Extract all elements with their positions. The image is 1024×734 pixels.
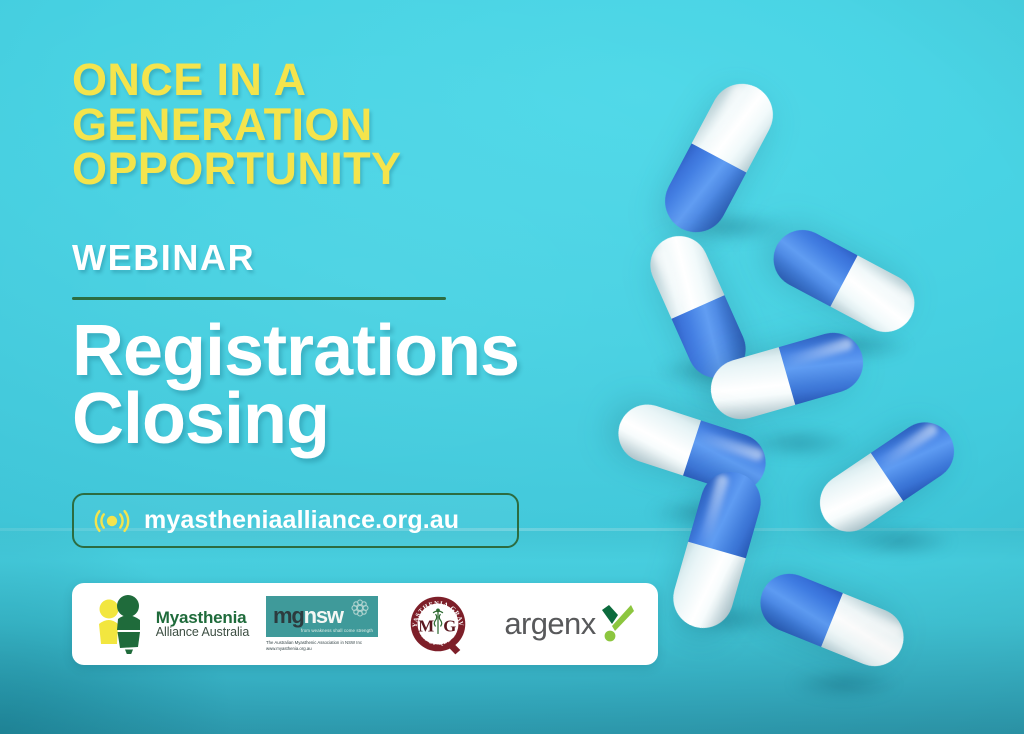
mgnsw-flower-icon [350,598,370,618]
maa-wordmark: Myasthenia Alliance Australia [156,609,249,640]
poster-canvas: ONCE IN A GENERATION OPPORTUNITY WEBINAR… [0,0,1024,734]
title-line-1: Registrations [72,317,672,385]
argenx-check-icon [600,604,634,644]
qld-seal-icon: MYASTHENIA GRAVIS ASSN. OF QLD INC. M G [407,593,469,655]
title-line-2: Closing [72,385,672,453]
svg-text:M: M [418,616,434,635]
kicker-webinar: WEBINAR [72,237,255,279]
mgnsw-mg-text: mg [266,603,304,629]
logo-myasthenia-alliance-australia[interactable]: Myasthenia Alliance Australia [72,583,258,665]
mgnsw-tagline: from weakness shall come strength [301,628,373,633]
broadcast-icon [94,508,130,534]
eyebrow-headline: ONCE IN A GENERATION OPPORTUNITY [72,58,592,192]
partner-logo-strip: Myasthenia Alliance Australia mg nsw [72,583,658,665]
divider-rule [72,297,446,300]
website-url-button[interactable]: myastheniaalliance.org.au [72,493,519,548]
maa-figures-icon [95,594,147,654]
mgnsw-nsw-text: nsw [304,603,343,629]
mgnsw-caption-line-2: www.myasthenia.org.au [266,646,378,652]
maa-primary-text: Myasthenia [156,609,249,627]
svg-text:G: G [443,616,456,635]
page-title: Registrations Closing [72,317,672,454]
eyebrow-line-3: OPPORTUNITY [72,147,592,192]
eyebrow-line-1: ONCE IN A [72,58,592,103]
logo-mg-nsw[interactable]: mg nsw from weakness shall come strength… [258,583,386,665]
mgnsw-caption: The Australian Myasthenic Association in… [266,640,378,652]
logo-mg-association-qld[interactable]: MYASTHENIA GRAVIS ASSN. OF QLD INC. M G [386,583,490,665]
argenx-wordmark: argenx [504,606,595,642]
maa-secondary-text: Alliance Australia [156,626,249,639]
website-url-text: myastheniaalliance.org.au [144,506,459,535]
logo-argenx[interactable]: argenx [490,583,658,665]
eyebrow-line-2: GENERATION [72,103,592,148]
mgnsw-mark: mg nsw from weakness shall come strength [266,596,378,637]
